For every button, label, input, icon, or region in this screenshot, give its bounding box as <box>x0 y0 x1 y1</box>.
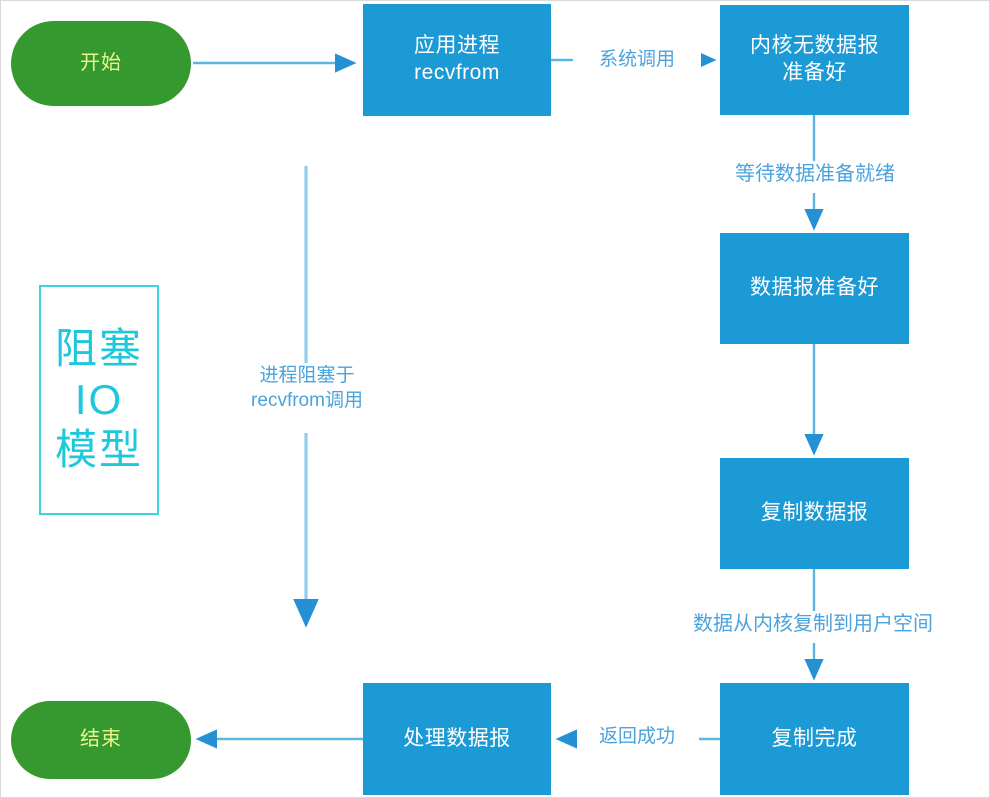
node-start[interactable]: 开始 <box>11 21 191 106</box>
node-copy-datagram-label: 复制数据报 <box>761 500 869 527</box>
node-copy-datagram[interactable]: 复制数据报 <box>720 458 909 569</box>
edge-label-kernel-to-user-space: 数据从内核复制到用户空间 <box>641 611 985 637</box>
edge-label-process-blocked: 进程阻塞于 recvfrom调用 <box>199 364 415 413</box>
node-kernel-no-datagram-label: 内核无数据报 准备好 <box>750 33 879 87</box>
node-start-label: 开始 <box>80 51 122 77</box>
node-app-recvfrom-label: 应用进程 recvfrom <box>414 33 500 87</box>
node-handle-datagram-label: 处理数据报 <box>403 726 511 753</box>
node-copy-done[interactable]: 复制完成 <box>720 683 909 795</box>
edge-label-wait-data-ready: 等待数据准备就绪 <box>690 161 940 187</box>
edge-label-system-call: 系统调用 <box>573 48 701 73</box>
node-datagram-ready-label: 数据报准备好 <box>750 275 879 302</box>
title-line-3: 模型 <box>55 426 143 475</box>
title-line-1: 阻塞 <box>55 325 143 374</box>
node-datagram-ready[interactable]: 数据报准备好 <box>720 233 909 344</box>
node-handle-datagram[interactable]: 处理数据报 <box>363 683 551 795</box>
title-line-2: IO <box>75 376 123 425</box>
node-end-label: 结束 <box>80 727 122 753</box>
node-kernel-no-datagram[interactable]: 内核无数据报 准备好 <box>720 5 909 115</box>
flowchart-canvas: 阻塞 IO 模型 开始 应用进程 recvfrom 内核无数据报 准备好 数据报… <box>0 0 990 798</box>
edge-label-return-success: 返回成功 <box>577 725 697 750</box>
node-end[interactable]: 结束 <box>11 701 191 779</box>
diagram-title-box: 阻塞 IO 模型 <box>39 285 159 515</box>
node-copy-done-label: 复制完成 <box>772 726 858 753</box>
node-app-recvfrom[interactable]: 应用进程 recvfrom <box>363 4 551 116</box>
